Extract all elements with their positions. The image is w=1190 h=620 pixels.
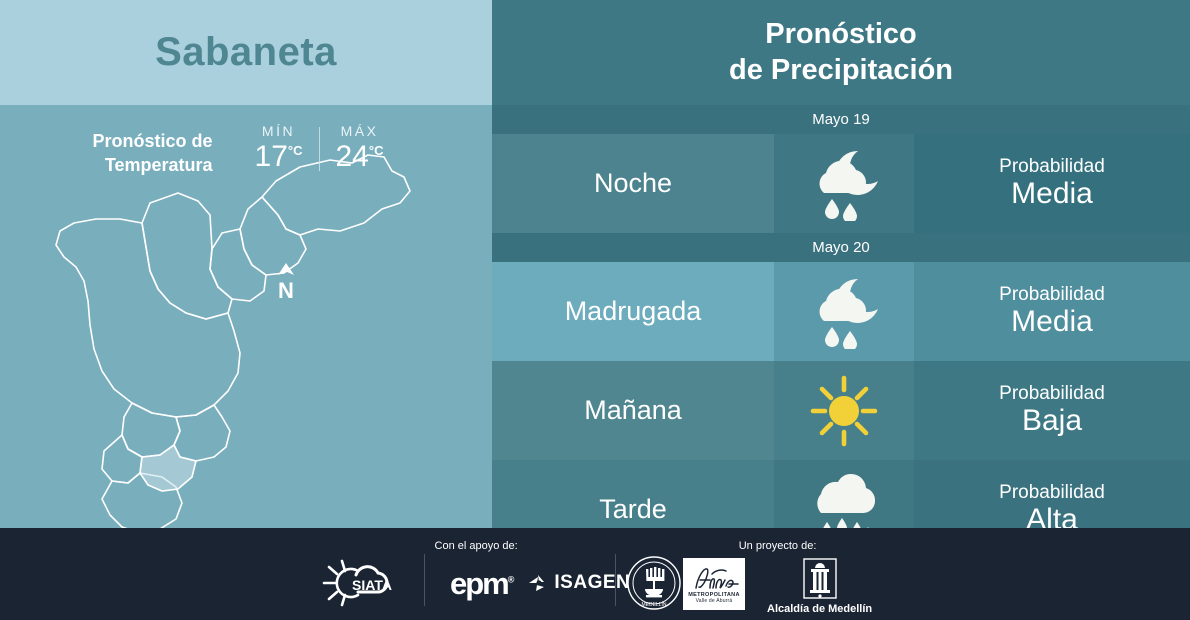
precipitation-title: Pronóstico de Precipitación <box>492 0 1190 105</box>
temperature-max: MÁX 24°C <box>320 123 400 173</box>
temperature-min: MÍN 17°C <box>239 123 319 173</box>
probability-caption: Probabilidad <box>999 482 1105 503</box>
forecast-row-madrugada[interactable]: Madrugada Probabilidad Media <box>492 262 1190 361</box>
udem-seal-text: MEDELLÍN <box>641 601 666 608</box>
footer-support-logos: SIATA epm® ISAGEN <box>322 558 630 608</box>
city-header: Sabaneta <box>0 0 492 105</box>
temperature-title-line2: Temperatura <box>93 153 213 177</box>
temperature-divider <box>319 127 320 171</box>
map-municipality-sabaneta-highlighted <box>140 445 196 491</box>
temperature-min-unit: °C <box>288 143 303 158</box>
city-name: Sabaneta <box>155 30 337 75</box>
temperature-title: Pronóstico de Temperatura <box>93 123 213 178</box>
probability-cell-manana: Probabilidad Baja <box>914 361 1190 460</box>
footer-project-group: Un proyecto de: METR <box>683 540 872 615</box>
precipitation-panel: Pronóstico de Precipitación Mayo 19 Noch… <box>492 0 1190 528</box>
temperature-max-label: MÁX <box>341 123 379 139</box>
compass-label: N <box>278 280 294 302</box>
isagen-logo-text: ISAGEN <box>554 572 630 594</box>
alcaldia-logo-text: Alcaldía de Medellín <box>767 603 872 615</box>
probability-cell-noche: Probabilidad Media <box>914 134 1190 233</box>
date-band-mayo-19: Mayo 19 <box>492 105 1190 134</box>
infographic-root: Sabaneta Pronóstico de Temperatura MÍN 1… <box>0 0 1190 620</box>
area-script-icon <box>688 564 740 592</box>
probability-caption: Probabilidad <box>999 383 1105 404</box>
epm-isagen-logos: epm® ISAGEN <box>450 568 630 599</box>
weather-icon-cell-noche <box>774 134 914 233</box>
alcaldia-crest-icon <box>798 558 842 600</box>
footer-project-caption: Un proyecto de: <box>739 540 817 552</box>
amva-subtitle-2: Valle de Aburrá <box>696 598 733 604</box>
temperature-max-value: 24°C <box>336 141 384 173</box>
temperature-min-label: MÍN <box>262 123 295 139</box>
map-municipality-envigado <box>174 405 230 461</box>
moon-cloud-rain-icon <box>802 147 886 221</box>
precipitation-title-line1: Pronóstico <box>765 17 916 52</box>
siata-logo-text: SIATA <box>352 577 392 593</box>
footer-support-caption: Con el apoyo de: <box>435 540 518 552</box>
temperature-max-unit: °C <box>369 143 384 158</box>
period-label-noche: Noche <box>492 134 774 233</box>
area-metropolitana-logo[interactable]: METROPOLITANA Valle de Aburrá <box>683 558 745 610</box>
moon-cloud-rain-icon <box>802 275 886 349</box>
temperature-title-line1: Pronóstico de <box>93 129 213 153</box>
sun-icon <box>804 373 884 449</box>
alcaldia-medellin-logo[interactable]: Alcaldía de Medellín <box>767 558 872 615</box>
isagen-mark-icon <box>528 573 550 593</box>
precipitation-title-line2: de Precipitación <box>729 53 953 88</box>
temperature-values: MÍN 17°C MÁX 24°C <box>239 123 400 173</box>
compass: N <box>276 263 296 302</box>
probability-cell-madrugada: Probabilidad Media <box>914 262 1190 361</box>
footer-divider-2 <box>615 554 616 606</box>
siata-logo-icon[interactable]: SIATA <box>322 558 422 608</box>
probability-value-noche: Media <box>1011 177 1093 211</box>
map-municipality-copacabana <box>210 229 266 301</box>
probability-value-madrugada: Media <box>1011 305 1093 339</box>
temperature-min-value: 17°C <box>255 141 303 173</box>
universidad-medellin-seal-icon[interactable]: MEDELLÍN <box>626 555 682 611</box>
period-label-manana: Mañana <box>492 361 774 460</box>
temperature-block: Pronóstico de Temperatura MÍN 17°C MÁX 2… <box>0 123 492 178</box>
weather-icon-cell-manana <box>774 361 914 460</box>
probability-value-manana: Baja <box>1022 404 1082 438</box>
map-area: Pronóstico de Temperatura MÍN 17°C MÁX 2… <box>0 105 492 528</box>
date-band-mayo-20: Mayo 20 <box>492 233 1190 262</box>
forecast-row-manana[interactable]: Mañana <box>492 361 1190 460</box>
probability-caption: Probabilidad <box>999 156 1105 177</box>
map-municipality-bello <box>142 193 232 319</box>
forecast-rows: Mayo 19 Noche Probabilidad Me <box>492 105 1190 559</box>
epm-logo-text[interactable]: epm® <box>450 568 514 599</box>
footer-support-group: Con el apoyo de: SIATA <box>322 540 630 608</box>
period-label-madrugada: Madrugada <box>492 262 774 361</box>
left-panel: Sabaneta Pronóstico de Temperatura MÍN 1… <box>0 0 492 528</box>
probability-caption: Probabilidad <box>999 284 1105 305</box>
map-municipality-girardota <box>240 197 306 275</box>
weather-icon-cell-madrugada <box>774 262 914 361</box>
forecast-row-noche[interactable]: Noche Probabilidad Media <box>492 134 1190 233</box>
footer-project-logos: METROPOLITANA Valle de Aburrá <box>683 558 872 615</box>
footer-divider-1 <box>424 554 425 606</box>
footer: Con el apoyo de: SIATA <box>0 528 1190 620</box>
